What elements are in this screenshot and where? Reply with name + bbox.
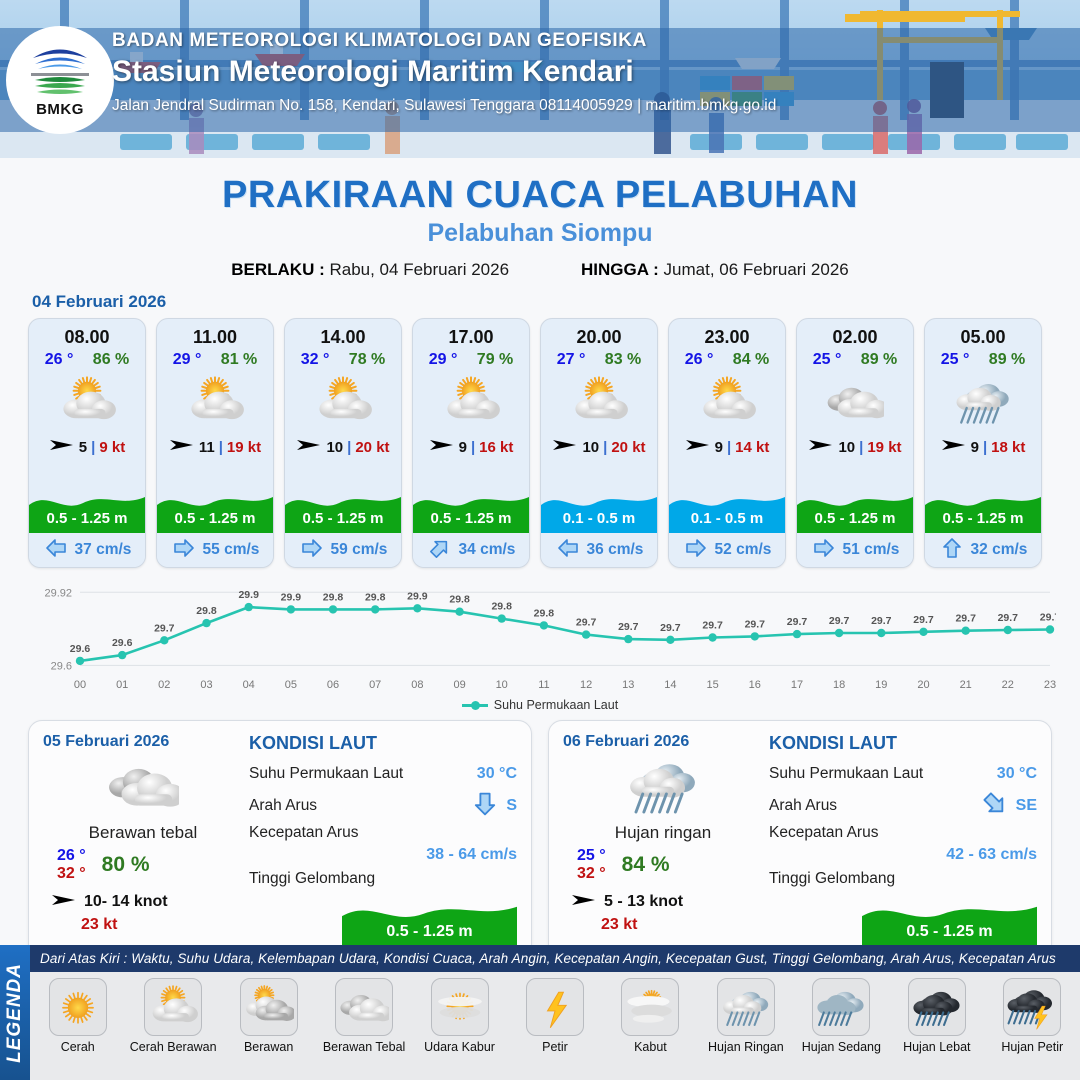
wind-separator: | — [983, 439, 987, 456]
wave-height: 0.1 - 0.5 m — [669, 510, 785, 527]
svg-text:29.6: 29.6 — [51, 660, 72, 672]
weather-partly-cloudy-icon — [413, 371, 529, 433]
daily-condition: Berawan tebal — [43, 823, 243, 843]
card-current: 55 cm/s — [157, 533, 273, 567]
wind-direction-icon — [49, 437, 75, 457]
wind-direction-icon — [571, 892, 597, 908]
svg-text:29.7: 29.7 — [660, 622, 681, 634]
daily-gust: 23 kt — [43, 916, 243, 934]
wave-height: 0.5 - 1.25 m — [797, 510, 913, 527]
svg-text:29.9: 29.9 — [281, 591, 302, 603]
current-direction-icon — [683, 537, 709, 564]
weather-lightning-icon — [526, 978, 584, 1036]
current-direction-row: Arah Arus S — [249, 790, 517, 822]
svg-text:23: 23 — [1044, 679, 1056, 691]
weather-light-rain-icon — [717, 978, 775, 1036]
forecast-date-label: 04 Februari 2026 — [32, 292, 1080, 312]
svg-text:19: 19 — [875, 679, 887, 691]
sea-conditions-title: KONDISI LAUT — [249, 733, 517, 754]
weather-partly-cloudy-icon — [144, 978, 202, 1036]
card-humidity: 84 % — [733, 351, 769, 369]
card-temperature: 29 ° — [173, 351, 202, 369]
wind-separator: | — [603, 439, 607, 456]
current-speed: 55 cm/s — [203, 541, 260, 559]
svg-text:17: 17 — [791, 679, 803, 691]
current-speed-label: Kecepatan Arus — [769, 824, 878, 842]
current-direction-label: Arah Arus — [249, 797, 317, 815]
card-humidity: 83 % — [605, 351, 641, 369]
svg-text:29.8: 29.8 — [491, 601, 512, 613]
daily-condition: Hujan ringan — [563, 823, 763, 843]
wind-direction-icon — [296, 437, 322, 453]
legend-item-label: Hujan Petir — [1001, 1040, 1063, 1054]
wave-height: 0.1 - 0.5 m — [541, 510, 657, 527]
chart-legend-marker-icon — [462, 704, 488, 707]
daily-wind-speed: 5 - 13 knot — [604, 893, 683, 911]
daily-wind: 5 - 13 knot — [563, 892, 763, 913]
current-speed: 32 cm/s — [971, 541, 1028, 559]
svg-text:07: 07 — [369, 679, 381, 691]
card-temperature: 26 ° — [45, 351, 74, 369]
wind-separator: | — [727, 439, 731, 456]
svg-text:29.7: 29.7 — [787, 616, 808, 628]
card-humidity: 79 % — [477, 351, 513, 369]
svg-text:04: 04 — [243, 679, 255, 691]
card-wave: 0.5 - 1.25 m — [413, 471, 529, 533]
legend-item-label: Petir — [542, 1040, 568, 1054]
wind-gust: 18 kt — [991, 439, 1025, 456]
svg-text:15: 15 — [706, 679, 718, 691]
legend-item-label: Hujan Sedang — [802, 1040, 881, 1054]
weather-cloudy-icon — [43, 753, 243, 819]
svg-text:29.7: 29.7 — [955, 613, 976, 625]
current-direction-icon — [43, 537, 69, 564]
svg-text:09: 09 — [453, 679, 465, 691]
card-wind: 10 | 19 kt — [797, 437, 913, 457]
svg-text:29.7: 29.7 — [154, 622, 175, 634]
svg-text:29.7: 29.7 — [913, 614, 934, 626]
wind-speed: 11 — [199, 439, 215, 456]
wave-height-label: Tinggi Gelombang — [769, 870, 895, 888]
card-wave: 0.5 - 1.25 m — [157, 471, 273, 533]
sst-value: 30 °C — [477, 765, 517, 783]
legend-main: Dari Atas Kiri : Waktu, Suhu Udara, Kele… — [30, 945, 1080, 1080]
card-time: 23.00 — [669, 319, 785, 348]
daily-humidity: 84 % — [622, 853, 670, 877]
wind-speed: 9 — [459, 439, 467, 456]
legend-item: Cerah Berawan — [127, 978, 219, 1054]
daily-left: 06 Februari 2026 Huj — [563, 733, 763, 945]
card-temp-humidity: 25 ° 89 % — [925, 348, 1041, 369]
daily-wave-graphic: 0.5 - 1.25 m — [862, 887, 1037, 949]
weather-heavy-rain-icon — [908, 978, 966, 1036]
daily-wind-speed: 10- 14 knot — [84, 893, 168, 911]
card-wind: 9 | 16 kt — [413, 437, 529, 457]
wind-direction-icon — [941, 437, 967, 453]
daily-wind: 10- 14 knot — [43, 892, 243, 913]
wave-height: 0.5 - 1.25 m — [157, 510, 273, 527]
current-direction-icon — [427, 537, 453, 564]
wind-direction-icon — [429, 437, 455, 453]
wind-gust: 9 kt — [99, 439, 125, 456]
legend-item-label: Hujan Lebat — [903, 1040, 970, 1054]
daily-temp-max: 32 ° — [577, 865, 606, 883]
current-speed: 36 cm/s — [587, 541, 644, 559]
svg-text:29.7: 29.7 — [576, 617, 597, 629]
wind-separator: | — [859, 439, 863, 456]
legend-item-label: Cerah Berawan — [130, 1040, 217, 1054]
station-address: Jalan Jendral Sudirman No. 158, Kendari,… — [112, 97, 1012, 115]
weather-partly-cloudy-icon — [29, 371, 145, 433]
card-current: 32 cm/s — [925, 533, 1041, 567]
wind-speed: 9 — [971, 439, 979, 456]
forecast-card: 17.00 29 ° 79 % 9 — [412, 318, 530, 568]
daily-temp-max: 32 ° — [57, 865, 86, 883]
svg-text:29.6: 29.6 — [112, 637, 133, 649]
chart-legend-label: Suhu Permukaan Laut — [494, 698, 618, 712]
current-direction-icon — [980, 790, 1010, 823]
card-temperature: 25 ° — [941, 351, 970, 369]
card-humidity: 81 % — [221, 351, 257, 369]
card-temperature: 27 ° — [557, 351, 586, 369]
wind-gust: 20 kt — [355, 439, 389, 456]
header-text-block: BADAN METEOROLOGI KLIMATOLOGI DAN GEOFIS… — [112, 30, 1012, 115]
wind-direction-icon — [169, 437, 195, 453]
card-temp-humidity: 29 ° 81 % — [157, 348, 273, 369]
sst-chart-svg: 29.9229.629.60029.60129.70229.80329.9042… — [24, 576, 1056, 696]
weather-moderate-rain-icon — [812, 978, 870, 1036]
svg-text:06: 06 — [327, 679, 339, 691]
svg-text:14: 14 — [664, 679, 676, 691]
svg-text:29.7: 29.7 — [1040, 612, 1056, 624]
current-speed-row: Kecepatan Arus — [769, 822, 1037, 844]
wind-direction-icon — [51, 892, 77, 908]
validity-row: BERLAKU : Rabu, 04 Februari 2026 HINGGA … — [0, 260, 1080, 280]
weather-fog-icon — [621, 978, 679, 1036]
weather-sunny-icon — [49, 978, 107, 1036]
weather-partly-cloudy-icon — [285, 371, 401, 433]
card-temperature: 32 ° — [301, 351, 330, 369]
berlaku-group: BERLAKU : Rabu, 04 Februari 2026 — [231, 260, 509, 280]
daily-wave-height: 0.5 - 1.25 m — [862, 923, 1037, 941]
current-speed: 37 cm/s — [75, 541, 132, 559]
sst-value: 30 °C — [997, 765, 1037, 783]
card-current: 37 cm/s — [29, 533, 145, 567]
card-temp-humidity: 25 ° 89 % — [797, 348, 913, 369]
svg-text:13: 13 — [622, 679, 634, 691]
wind-direction-icon — [169, 437, 195, 457]
svg-text:29.9: 29.9 — [238, 589, 259, 601]
card-temperature: 25 ° — [813, 351, 842, 369]
legend-item-label: Kabut — [634, 1040, 667, 1054]
wave-height-label: Tinggi Gelombang — [249, 870, 375, 888]
current-direction-value: SE — [1016, 797, 1037, 815]
weather-cloudy-icon — [335, 978, 393, 1036]
daily-left: 05 Februari 2026 Ber — [43, 733, 243, 945]
sst-label: Suhu Permukaan Laut — [249, 765, 403, 783]
legend-item-label: Cerah — [61, 1040, 95, 1054]
wind-separator: | — [219, 439, 223, 456]
forecast-card: 14.00 32 ° 78 % 10 — [284, 318, 402, 568]
wind-direction-icon — [429, 437, 455, 457]
card-wind: 9 | 18 kt — [925, 437, 1041, 457]
wind-direction-icon — [808, 437, 834, 453]
svg-text:29.9: 29.9 — [407, 590, 428, 602]
card-wave: 0.1 - 0.5 m — [669, 471, 785, 533]
svg-text:29.8: 29.8 — [323, 591, 344, 603]
card-wind: 10 | 20 kt — [541, 437, 657, 457]
current-speed-label: Kecepatan Arus — [249, 824, 358, 842]
wind-direction-icon — [571, 892, 597, 913]
legend-item: Cerah — [32, 978, 124, 1054]
wave-height: 0.5 - 1.25 m — [285, 510, 401, 527]
legend-note: Dari Atas Kiri : Waktu, Suhu Udara, Kele… — [30, 945, 1080, 972]
svg-text:29.7: 29.7 — [829, 615, 850, 627]
legend-item-label: Berawan — [244, 1040, 293, 1054]
legend-item: Udara Kabur — [414, 978, 506, 1054]
berlaku-label: BERLAKU : — [231, 260, 325, 279]
svg-text:18: 18 — [833, 679, 845, 691]
wind-direction-icon — [552, 437, 578, 457]
hingga-value: Jumat, 06 Februari 2026 — [664, 260, 849, 279]
card-temp-humidity: 27 ° 83 % — [541, 348, 657, 369]
svg-text:29.8: 29.8 — [365, 591, 386, 603]
card-current: 34 cm/s — [413, 533, 529, 567]
svg-text:29.92: 29.92 — [44, 587, 72, 599]
daily-date: 05 Februari 2026 — [43, 733, 243, 751]
legend-item: Hujan Ringan — [700, 978, 792, 1054]
legend-item-label: Berawan Tebal — [323, 1040, 405, 1054]
svg-text:10: 10 — [496, 679, 508, 691]
svg-text:20: 20 — [917, 679, 929, 691]
weather-haze-icon — [431, 978, 489, 1036]
current-direction-row: Arah Arus SE — [769, 790, 1037, 822]
chart-legend: Suhu Permukaan Laut — [0, 698, 1080, 712]
svg-text:21: 21 — [960, 679, 972, 691]
current-speed: 52 cm/s — [715, 541, 772, 559]
forecast-card: 23.00 26 ° 84 % 9 — [668, 318, 786, 568]
wind-gust: 19 kt — [227, 439, 261, 456]
legend-strip: LEGENDA Dari Atas Kiri : Waktu, Suhu Uda… — [0, 945, 1080, 1080]
current-direction-icon — [939, 537, 965, 564]
card-humidity: 86 % — [93, 351, 129, 369]
daily-forecast-panel: 06 Februari 2026 Huj — [548, 720, 1052, 958]
sst-chart: 29.9229.629.60029.60129.70229.80329.9042… — [24, 576, 1056, 696]
card-time: 05.00 — [925, 319, 1041, 348]
current-direction-icon — [171, 537, 197, 564]
card-current: 51 cm/s — [797, 533, 913, 567]
current-direction-label: Arah Arus — [769, 797, 837, 815]
card-wave: 0.5 - 1.25 m — [285, 471, 401, 533]
card-time: 17.00 — [413, 319, 529, 348]
daily-humidity: 80 % — [102, 853, 150, 877]
wind-separator: | — [347, 439, 351, 456]
weather-partly-cloudy-icon — [157, 371, 273, 433]
wind-direction-icon — [941, 437, 967, 457]
card-wind: 9 | 14 kt — [669, 437, 785, 457]
current-direction-icon — [555, 537, 581, 564]
svg-text:29.6: 29.6 — [70, 643, 91, 655]
legend-item-label: Udara Kabur — [424, 1040, 495, 1054]
weather-light-rain-icon — [563, 753, 763, 819]
daily-sea-conditions: KONDISI LAUT Suhu Permukaan Laut 30 °C A… — [243, 733, 517, 945]
page-header: BMKG BADAN METEOROLOGI KLIMATOLOGI DAN G… — [0, 0, 1080, 158]
svg-text:12: 12 — [580, 679, 592, 691]
card-wind: 10 | 20 kt — [285, 437, 401, 457]
legend-items-row: Cerah Cerah Berawan — [30, 972, 1080, 1080]
forecast-card: 20.00 27 ° 83 % 10 — [540, 318, 658, 568]
card-humidity: 89 % — [861, 351, 897, 369]
card-time: 14.00 — [285, 319, 401, 348]
wind-direction-icon — [296, 437, 322, 457]
card-temperature: 26 ° — [685, 351, 714, 369]
wave-height: 0.5 - 1.25 m — [29, 510, 145, 527]
legend-side-label: LEGENDA — [0, 945, 30, 1080]
card-current: 52 cm/s — [669, 533, 785, 567]
bmkg-logo-text: BMKG — [36, 101, 84, 118]
svg-text:22: 22 — [1002, 679, 1014, 691]
wind-speed: 10 — [582, 439, 599, 456]
weather-thunderstorm-icon — [1003, 978, 1061, 1036]
svg-text:29.7: 29.7 — [618, 621, 639, 633]
card-temperature: 29 ° — [429, 351, 458, 369]
current-speed-row: Kecepatan Arus — [249, 822, 517, 844]
hourly-forecast-row: 08.00 26 ° 86 % 5 — [0, 318, 1080, 568]
daily-temps: 26 ° 32 ° 80 % — [43, 847, 243, 884]
bmkg-logo: BMKG — [6, 26, 114, 134]
legend-item: Hujan Petir — [986, 978, 1078, 1054]
card-humidity: 89 % — [989, 351, 1025, 369]
weather-partly-cloudy-icon — [669, 371, 785, 433]
legend-side-text: LEGENDA — [4, 963, 26, 1063]
weather-light-rain-icon — [925, 371, 1041, 433]
weather-mostly-cloudy-icon — [240, 978, 298, 1036]
forecast-card: 11.00 29 ° 81 % 11 — [156, 318, 274, 568]
current-speed: 34 cm/s — [459, 541, 516, 559]
weather-cloudy-icon — [797, 371, 913, 433]
legend-item: Berawan Tebal — [318, 978, 410, 1054]
daily-temp-min: 26 ° — [57, 847, 86, 865]
wind-gust: 19 kt — [867, 439, 901, 456]
legend-item: Kabut — [604, 978, 696, 1054]
card-temp-humidity: 32 ° 78 % — [285, 348, 401, 369]
card-wave: 0.5 - 1.25 m — [797, 471, 913, 533]
wind-direction-icon — [51, 892, 77, 913]
forecast-card: 02.00 25 ° 89 % — [796, 318, 914, 568]
daily-wave-height: 0.5 - 1.25 m — [342, 923, 517, 941]
page-title: PRAKIRAAN CUACA PELABUHAN — [0, 174, 1080, 217]
page-subtitle: Pelabuhan Siompu — [0, 219, 1080, 248]
card-time: 20.00 — [541, 319, 657, 348]
daily-date: 06 Februari 2026 — [563, 733, 763, 751]
svg-text:29.7: 29.7 — [702, 620, 723, 632]
daily-temps: 25 ° 32 ° 84 % — [563, 847, 763, 884]
current-direction-value: S — [506, 797, 517, 815]
wind-gust: 16 kt — [479, 439, 513, 456]
wind-direction-icon — [685, 437, 711, 453]
sea-conditions-title: KONDISI LAUT — [769, 733, 1037, 754]
wind-direction-icon — [685, 437, 711, 457]
current-speed: 51 cm/s — [843, 541, 900, 559]
daily-gust: 23 kt — [563, 916, 763, 934]
svg-text:02: 02 — [158, 679, 170, 691]
wind-direction-icon — [552, 437, 578, 453]
card-temp-humidity: 29 ° 79 % — [413, 348, 529, 369]
sst-row: Suhu Permukaan Laut 30 °C — [249, 758, 517, 790]
svg-text:29.7: 29.7 — [745, 618, 766, 630]
card-humidity: 78 % — [349, 351, 385, 369]
wind-separator: | — [91, 439, 95, 456]
svg-text:11: 11 — [538, 679, 549, 691]
wind-direction-icon — [49, 437, 75, 453]
card-current: 36 cm/s — [541, 533, 657, 567]
daily-sea-conditions: KONDISI LAUT Suhu Permukaan Laut 30 °C A… — [763, 733, 1037, 945]
current-speed-value: 42 - 63 cm/s — [769, 846, 1037, 864]
card-time: 08.00 — [29, 319, 145, 348]
svg-text:29.8: 29.8 — [449, 594, 470, 606]
wind-speed: 5 — [79, 439, 87, 456]
station-name: Stasiun Meteorologi Maritim Kendari — [112, 55, 1012, 89]
card-wind: 11 | 19 kt — [157, 437, 273, 457]
card-temp-humidity: 26 ° 86 % — [29, 348, 145, 369]
daily-wave-graphic: 0.5 - 1.25 m — [342, 887, 517, 949]
weather-partly-cloudy-icon — [541, 371, 657, 433]
current-direction-icon — [811, 537, 837, 564]
card-time: 02.00 — [797, 319, 913, 348]
svg-text:16: 16 — [749, 679, 761, 691]
daily-forecast-row: 05 Februari 2026 Ber — [0, 712, 1080, 958]
wind-gust: 20 kt — [611, 439, 645, 456]
svg-text:29.7: 29.7 — [871, 615, 892, 627]
wind-separator: | — [471, 439, 475, 456]
daily-temp-min: 25 ° — [577, 847, 606, 865]
card-time: 11.00 — [157, 319, 273, 348]
sst-label: Suhu Permukaan Laut — [769, 765, 923, 783]
wind-speed: 10 — [838, 439, 855, 456]
current-direction-icon — [470, 790, 500, 823]
agency-name: BADAN METEOROLOGI KLIMATOLOGI DAN GEOFIS… — [112, 30, 1012, 52]
hingga-label: HINGGA : — [581, 260, 659, 279]
forecast-card: 05.00 25 ° 89 % — [924, 318, 1042, 568]
current-speed-value: 38 - 64 cm/s — [249, 846, 517, 864]
card-current: 59 cm/s — [285, 533, 401, 567]
wind-speed: 9 — [715, 439, 723, 456]
card-wind: 5 | 9 kt — [29, 437, 145, 457]
wind-direction-icon — [808, 437, 834, 457]
svg-text:03: 03 — [200, 679, 212, 691]
svg-text:29.7: 29.7 — [998, 612, 1019, 624]
wave-height: 0.5 - 1.25 m — [413, 510, 529, 527]
card-wave: 0.1 - 0.5 m — [541, 471, 657, 533]
berlaku-value: Rabu, 04 Februari 2026 — [329, 260, 509, 279]
legend-item: Petir — [509, 978, 601, 1054]
current-direction-icon — [299, 537, 325, 564]
daily-forecast-panel: 05 Februari 2026 Ber — [28, 720, 532, 958]
card-wave: 0.5 - 1.25 m — [925, 471, 1041, 533]
svg-text:00: 00 — [74, 679, 86, 691]
legend-item: Hujan Sedang — [795, 978, 887, 1054]
svg-text:29.8: 29.8 — [196, 605, 217, 617]
svg-text:29.8: 29.8 — [534, 607, 555, 619]
legend-item: Hujan Lebat — [891, 978, 983, 1054]
wind-speed: 10 — [326, 439, 343, 456]
wind-gust: 14 kt — [735, 439, 769, 456]
svg-text:01: 01 — [116, 679, 128, 691]
wave-height: 0.5 - 1.25 m — [925, 510, 1041, 527]
forecast-card: 08.00 26 ° 86 % 5 — [28, 318, 146, 568]
card-wave: 0.5 - 1.25 m — [29, 471, 145, 533]
svg-text:05: 05 — [285, 679, 297, 691]
